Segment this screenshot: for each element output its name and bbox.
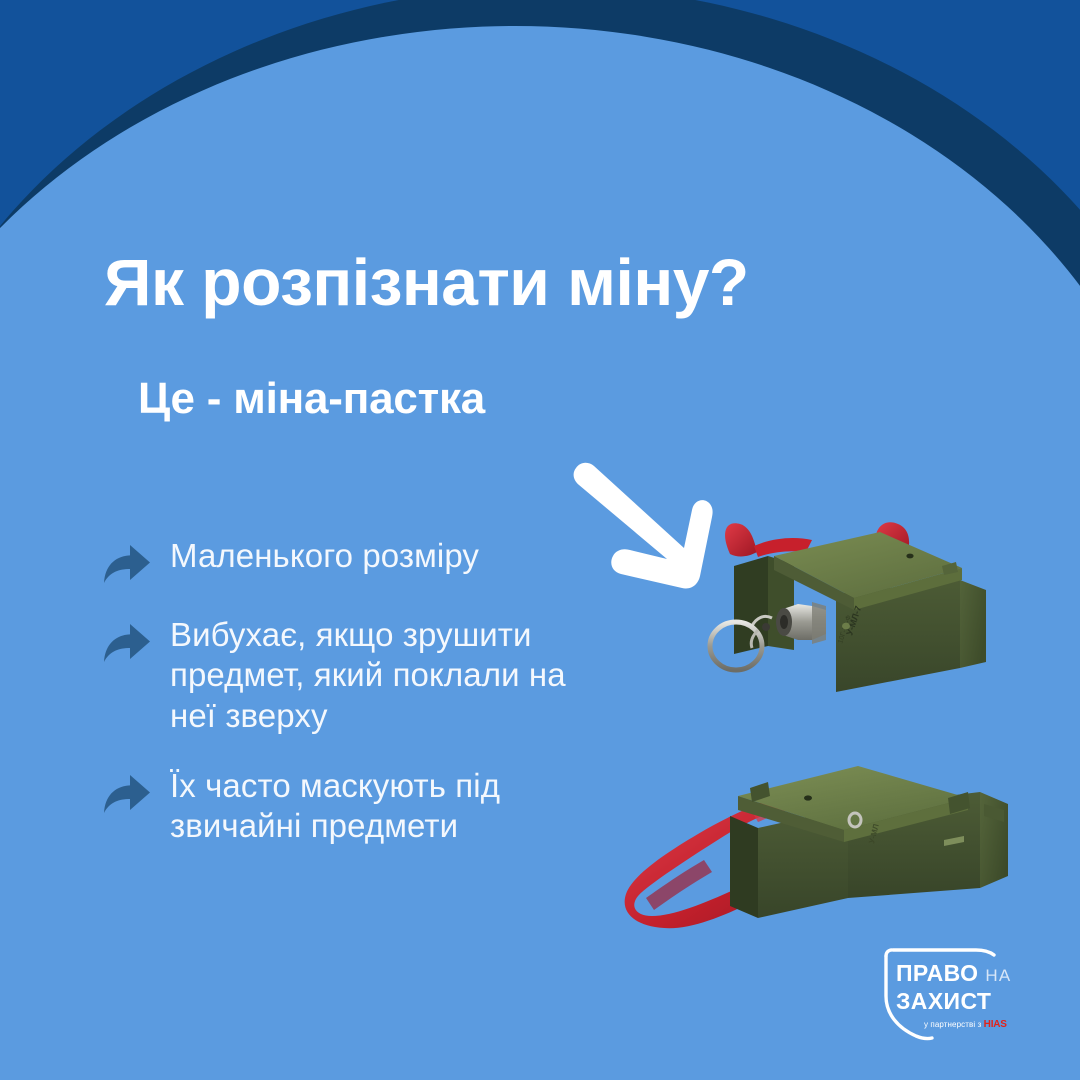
list-item: Їх часто маскують під звичайні предмети — [100, 766, 620, 847]
forward-arrow-icon — [100, 543, 152, 585]
logo-na-text: НА — [985, 967, 1011, 984]
logo-partner-line: у партнерстві з HIAS — [924, 1019, 1050, 1030]
logo-hias-text: HIAS — [984, 1019, 1007, 1030]
page-subtitle: Це - міна-пастка — [138, 376, 485, 422]
logo-zahyst-text: ЗАХИСТ — [896, 990, 1050, 1013]
logo-partner-prefix: у партнерстві з — [924, 1020, 981, 1029]
logo-wordmark: ПРАВО НА ЗАХИСТ у партнерстві з HIAS — [896, 962, 1050, 1030]
mine-photo-bottom: У-МЛ — [612, 716, 1032, 946]
mine-photo-top: У-МЛ-7 10Г-12-Ф — [694, 494, 1014, 724]
list-item: Маленького розміру — [100, 536, 620, 585]
feature-list: Маленького розміру Вибухає, якщо зрушити… — [100, 536, 620, 846]
forward-arrow-icon — [100, 773, 152, 815]
list-item-label: Їх часто маскують під звичайні предмети — [170, 766, 620, 847]
list-item: Вибухає, якщо зрушити предмет, який покл… — [100, 615, 620, 736]
pravo-na-zahyst-logo[interactable]: ПРАВО НА ЗАХИСТ у партнерстві з HIAS — [872, 946, 1050, 1042]
list-item-label: Маленького розміру — [170, 536, 479, 576]
list-item-label: Вибухає, якщо зрушити предмет, який покл… — [170, 615, 620, 736]
logo-pravo-text: ПРАВО — [896, 962, 978, 985]
forward-arrow-icon — [100, 622, 152, 664]
poster-canvas: Як розпізнати міну? Це - міна-пастка Мал… — [0, 0, 1080, 1080]
page-title: Як розпізнати міну? — [104, 248, 749, 317]
